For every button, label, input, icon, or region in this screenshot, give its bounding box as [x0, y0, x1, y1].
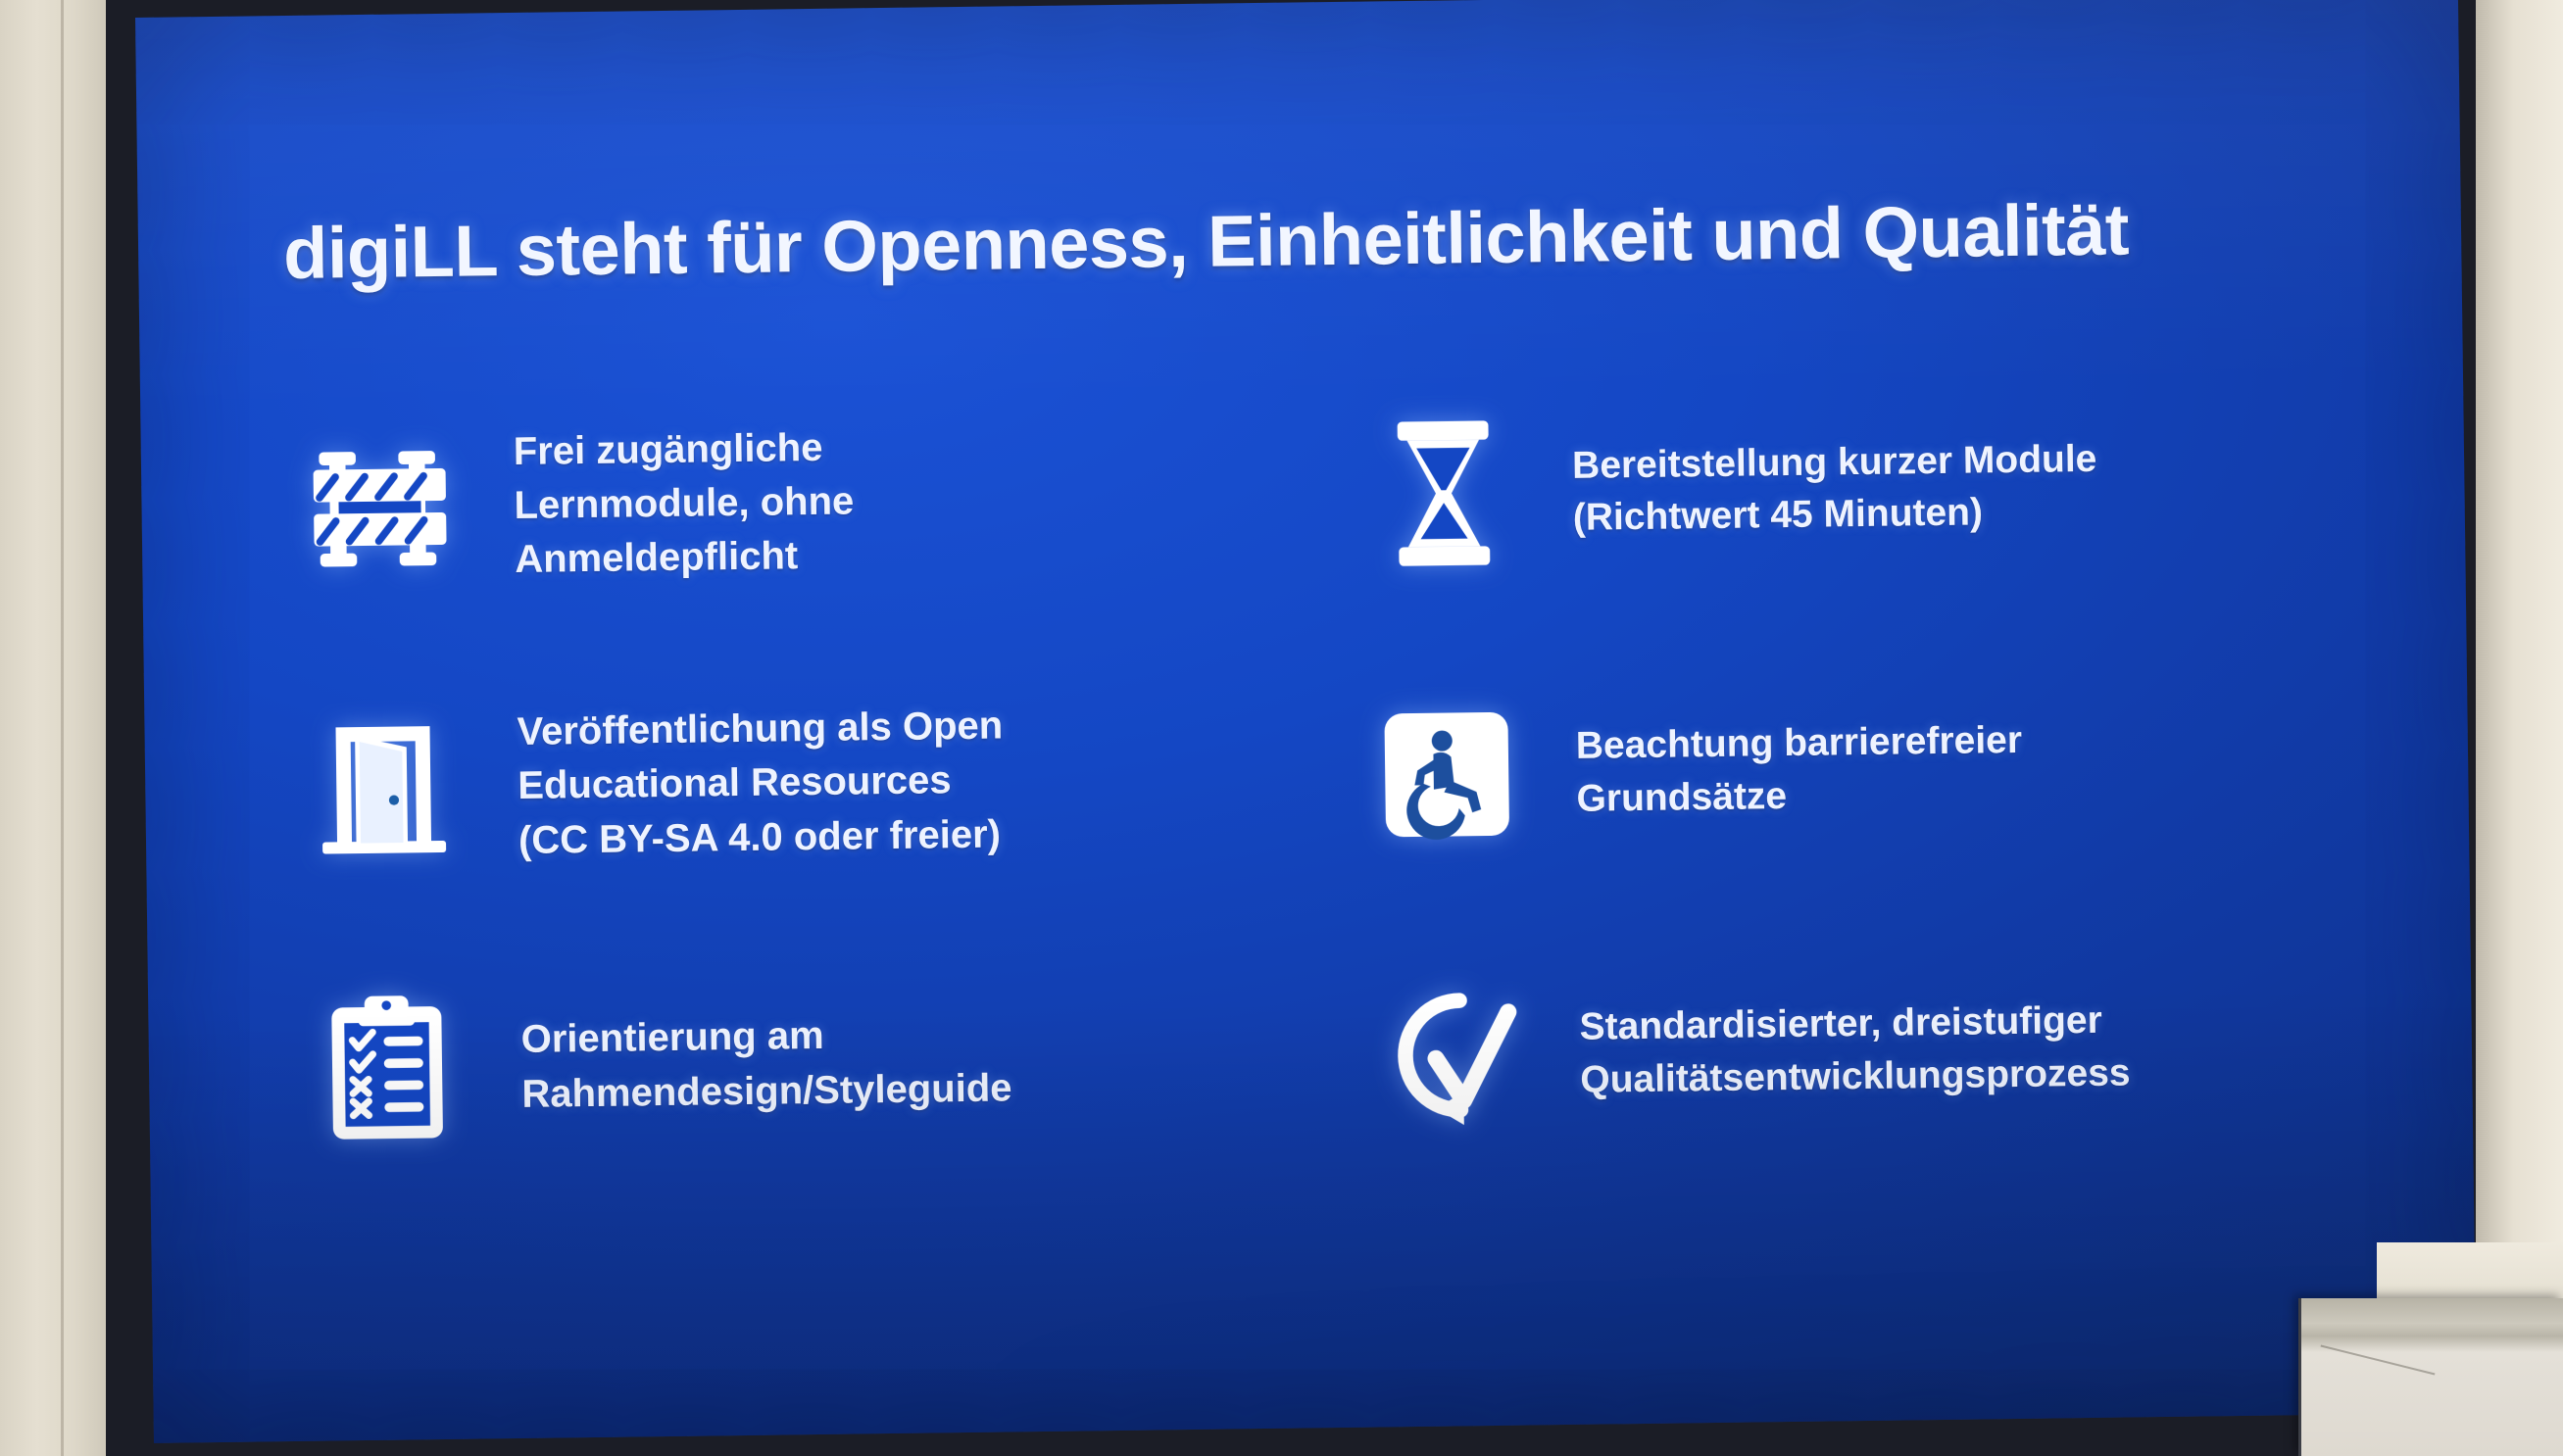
clipboard-checklist-icon [293, 975, 481, 1163]
hourglass-icon [1354, 400, 1532, 588]
slide-title: digiLL steht für Openness, Einheitlichke… [283, 185, 2342, 295]
feature-label: Frei zugängliche Lernmodule, ohne Anmeld… [513, 420, 855, 587]
feature-item-oer-license: Veröffentlichung als Open Educational Re… [288, 636, 1302, 930]
feature-grid: Frei zugängliche Lernmodule, ohne Anmeld… [285, 341, 2374, 1211]
feature-label: Veröffentlichung als Open Educational Re… [517, 700, 1005, 868]
wall-left [0, 0, 106, 1456]
flipchart-crease [2321, 1345, 2436, 1376]
presentation-slide: digiLL steht für Openness, Einheitlichke… [135, 0, 2477, 1443]
wheelchair-accessibility-icon [1357, 680, 1536, 868]
room-background: digiLL steht für Openness, Einheitlichke… [0, 0, 2563, 1456]
feature-item-short-modules: Bereitstellung kurzer Module (Richtwert … [1354, 341, 2367, 635]
feature-item-accessibility: Beachtung barrierefreier Grundsätze [1356, 622, 2370, 916]
open-door-icon [289, 695, 477, 883]
feature-label: Orientierung am Rahmendesign/Styleguide [520, 1007, 1012, 1122]
feature-label: Beachtung barrierefreier Grundsätze [1576, 714, 2024, 826]
wall-right [2473, 0, 2563, 1456]
feature-item-styleguide: Orientierung am Rahmendesign/Styleguide [292, 917, 1306, 1211]
feature-label: Standardisierter, dreistufiger Qualitäts… [1579, 994, 2131, 1106]
projection-screen-bezel: digiLL steht für Openness, Einheitlichke… [106, 0, 2476, 1456]
feature-item-quality-process: Standardisierter, dreistufiger Qualitäts… [1360, 903, 2374, 1197]
feature-item-open-access: Frei zugängliche Lernmodule, ohne Anmeld… [285, 356, 1299, 650]
checkmark-cycle-icon [1361, 961, 1540, 1149]
wall-seam [61, 0, 64, 1456]
barrier-icon [285, 413, 473, 602]
feature-label: Bereitstellung kurzer Module (Richtwert … [1572, 432, 2098, 545]
flipchart-board [2298, 1298, 2563, 1456]
